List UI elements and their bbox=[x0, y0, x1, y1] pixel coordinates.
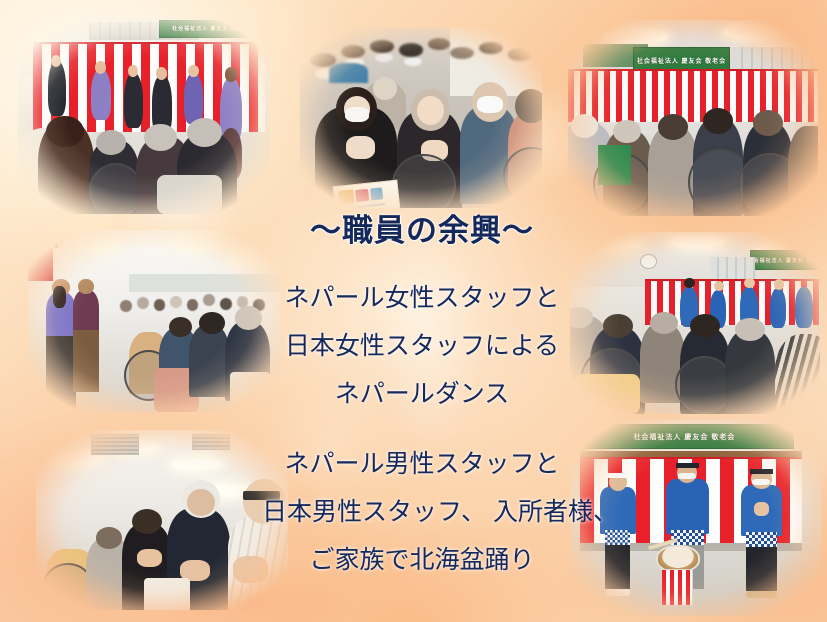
paragraph-nepal-women-dance: ネパール女性スタッフと 日本女性スタッフによる ネパールダンス bbox=[262, 274, 582, 418]
poster-text-block: 〜職員の余興〜 ネパール女性スタッフと 日本女性スタッフによる ネパールダンス … bbox=[262, 214, 582, 584]
page-title: 〜職員の余興〜 bbox=[262, 214, 582, 248]
wall-clock-icon bbox=[640, 254, 657, 269]
text-line: ネパール女性スタッフと bbox=[262, 274, 582, 322]
text-line: 日本男性スタッフ、 入所者様、 bbox=[262, 488, 582, 536]
hachimaki-headband bbox=[608, 473, 628, 478]
text-line: ご家族で北海盆踊り bbox=[262, 536, 582, 584]
photo-top-right: 社会福祉法人 慶友会 敬老会 bbox=[568, 20, 818, 216]
photo-mid-left bbox=[28, 230, 280, 412]
photo-top-left: 社会福祉法人 慶友会 敬老会 bbox=[18, 18, 270, 214]
text-line: ネパールダンス bbox=[262, 370, 582, 418]
photo-bottom-left bbox=[36, 430, 288, 610]
hall-banner-green: 社会福祉法人 慶友会 敬老会 bbox=[575, 424, 794, 450]
hall-banner-green: 社会福祉法人 慶友会 敬老会 bbox=[159, 20, 262, 38]
paragraph-spacer bbox=[262, 418, 582, 440]
hall-banner-green: 社会福祉法人 慶友会 敬老会 bbox=[750, 250, 820, 270]
photo-mid-right: 社会福祉法人 慶友会 敬老会 bbox=[570, 232, 820, 414]
photo-top-center bbox=[300, 28, 542, 208]
face-mask bbox=[752, 479, 770, 486]
text-line: ネパール男性スタッフと bbox=[262, 440, 582, 488]
poster-canvas: 社会福祉法人 慶友会 敬老会 bbox=[0, 0, 827, 622]
paragraph-hokkai-bon-odori: ネパール男性スタッフと 日本男性スタッフ、 入所者様、 ご家族で北海盆踊り bbox=[262, 440, 582, 584]
drum-stand bbox=[661, 569, 693, 606]
text-line: 日本女性スタッフによる bbox=[262, 322, 582, 370]
happi-staff-center bbox=[666, 479, 709, 534]
ceiling-aircon bbox=[91, 434, 138, 456]
